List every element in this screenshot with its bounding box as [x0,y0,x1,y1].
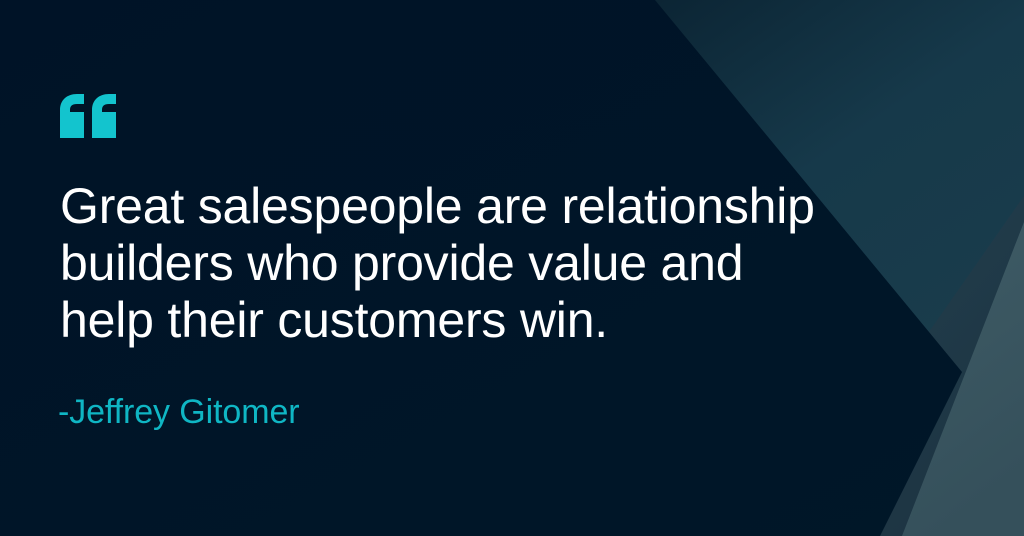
card-content: Great salespeople are relationship build… [0,0,1024,536]
quote-attribution: -Jeffrey Gitomer [58,392,300,432]
open-quote-icon [58,92,120,140]
quote-card: Great salespeople are relationship build… [0,0,1024,536]
quote-text: Great salespeople are relationship build… [60,178,820,349]
